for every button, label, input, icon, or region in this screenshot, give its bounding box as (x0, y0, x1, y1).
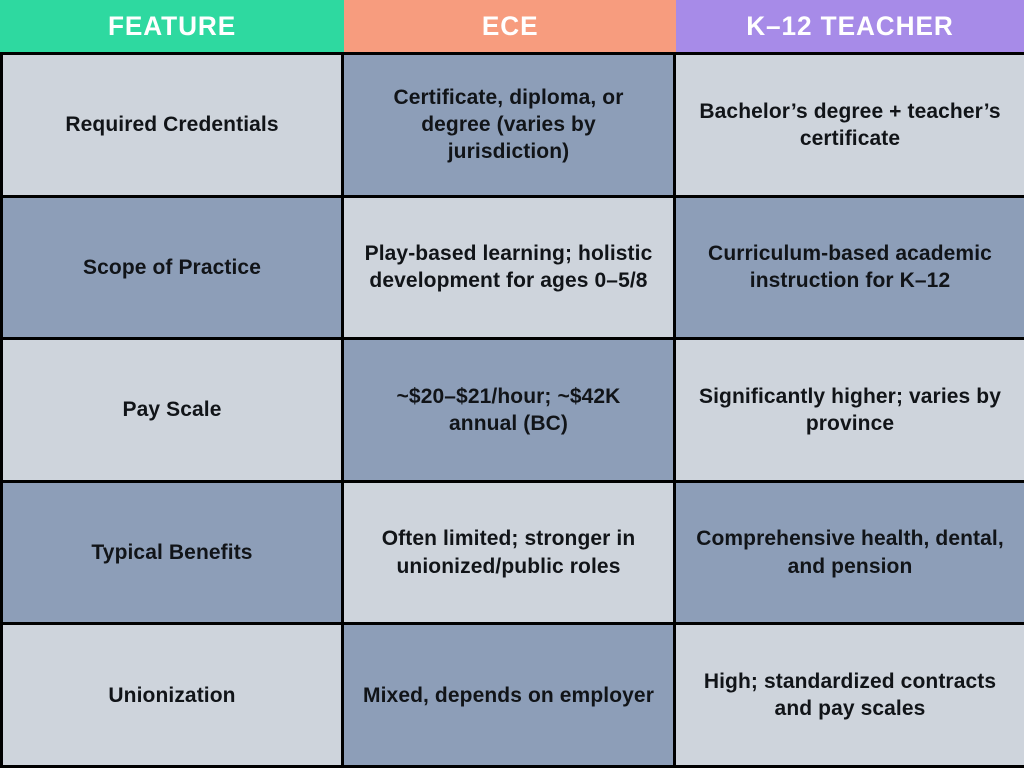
cell-label-feature: Unionization (108, 682, 235, 709)
column-header-k12-teacher-label: K–12 TEACHER (746, 13, 953, 40)
table-row: Scope of Practice Play-based learning; h… (3, 195, 1024, 338)
cell-label-feature: Typical Benefits (91, 539, 252, 566)
table-cell-k12: High; standardized contracts and pay sca… (676, 625, 1024, 765)
cell-label-feature: Scope of Practice (83, 254, 261, 281)
cell-label-ece: ~$20–$21/hour; ~$42K annual (BC) (360, 383, 657, 438)
cell-label-feature: Required Credentials (65, 111, 278, 138)
cell-label-ece: Play-based learning; holistic developmen… (360, 240, 657, 295)
table-row: Required Credentials Certificate, diplom… (3, 52, 1024, 195)
table-cell-feature: Unionization (3, 625, 344, 765)
table-cell-feature: Scope of Practice (3, 198, 344, 338)
table-row: Typical Benefits Often limited; stronger… (3, 480, 1024, 623)
table-cell-ece: Certificate, diploma, or degree (varies … (344, 55, 676, 195)
cell-label-ece: Mixed, depends on employer (363, 682, 654, 709)
table-cell-k12: Significantly higher; varies by province (676, 340, 1024, 480)
cell-label-k12: Significantly higher; varies by province (692, 383, 1008, 438)
table-cell-k12: Bachelor’s degree + teacher’s certificat… (676, 55, 1024, 195)
table-cell-ece: Often limited; stronger in unionized/pub… (344, 483, 676, 623)
table-cell-ece: ~$20–$21/hour; ~$42K annual (BC) (344, 340, 676, 480)
table-cell-ece: Play-based learning; holistic developmen… (344, 198, 676, 338)
table-row: Unionization Mixed, depends on employer … (3, 622, 1024, 768)
table-cell-ece: Mixed, depends on employer (344, 625, 676, 765)
cell-label-feature: Pay Scale (122, 396, 221, 423)
cell-label-k12: High; standardized contracts and pay sca… (692, 668, 1008, 723)
column-header-feature: FEATURE (0, 0, 344, 52)
column-header-feature-label: FEATURE (108, 13, 236, 40)
cell-label-k12: Comprehensive health, dental, and pensio… (692, 525, 1008, 580)
cell-label-k12: Bachelor’s degree + teacher’s certificat… (692, 98, 1008, 153)
cell-label-ece: Certificate, diploma, or degree (varies … (360, 84, 657, 166)
cell-label-ece: Often limited; stronger in unionized/pub… (360, 525, 657, 580)
table-body: Required Credentials Certificate, diplom… (0, 52, 1024, 768)
table-cell-k12: Comprehensive health, dental, and pensio… (676, 483, 1024, 623)
column-header-ece: ECE (344, 0, 676, 52)
cell-label-k12: Curriculum-based academic instruction fo… (692, 240, 1008, 295)
table-cell-feature: Pay Scale (3, 340, 344, 480)
comparison-table: FEATURE ECE K–12 TEACHER Required Creden… (0, 0, 1024, 768)
table-cell-k12: Curriculum-based academic instruction fo… (676, 198, 1024, 338)
table-row: Pay Scale ~$20–$21/hour; ~$42K annual (B… (3, 337, 1024, 480)
table-cell-feature: Typical Benefits (3, 483, 344, 623)
column-header-k12-teacher: K–12 TEACHER (676, 0, 1024, 52)
column-header-ece-label: ECE (482, 13, 539, 40)
table-cell-feature: Required Credentials (3, 55, 344, 195)
table-header-row: FEATURE ECE K–12 TEACHER (0, 0, 1024, 52)
